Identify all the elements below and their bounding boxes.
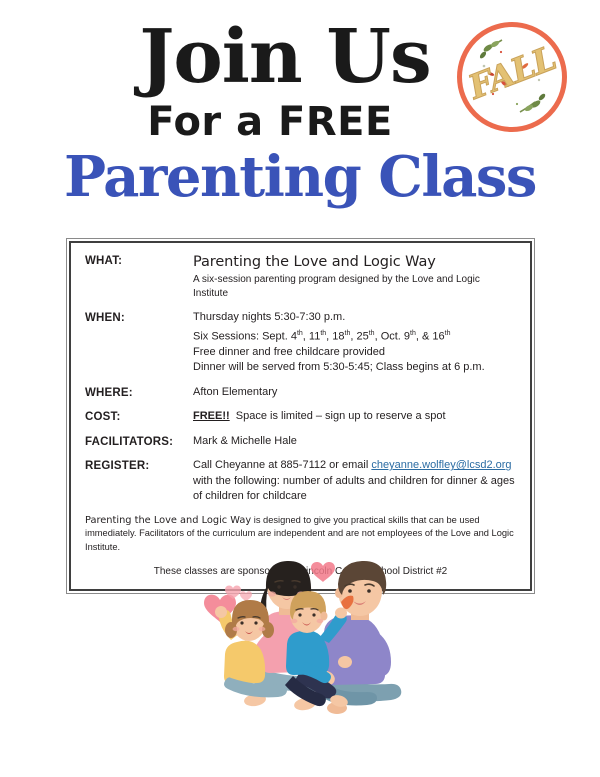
detail-label-facilitators: FACILITATORS:: [85, 434, 193, 448]
detail-value-register: Call Cheyanne at 885-7112 or email cheya…: [193, 458, 516, 505]
fall-badge: FALL: [457, 22, 567, 132]
detail-label-where: WHERE:: [85, 385, 193, 399]
detail-label-cost: COST:: [85, 409, 193, 423]
detail-row-when: WHEN: Thursday nights 5:30-7:30 p.m. Six…: [85, 310, 516, 376]
sessions-mid-5: , & 16: [416, 330, 445, 342]
when-time: Thursday nights 5:30-7:30 p.m.: [193, 310, 516, 326]
disclaimer-program-name: Parenting the Love and Logic Way: [85, 515, 251, 526]
cost-free-tag: FREE!!: [193, 410, 230, 422]
cost-note: Space is limited – sign up to reserve a …: [236, 410, 446, 422]
flyer-header: Join Us For a FREE Parenting Class: [0, 0, 600, 215]
program-subtitle: A six-session parenting program designed…: [193, 273, 516, 301]
program-title: Parenting the Love and Logic Way: [193, 254, 436, 270]
detail-value-what: Parenting the Love and Logic Way A six-s…: [193, 253, 516, 301]
detail-value-facilitators: Mark & Michelle Hale: [193, 434, 516, 450]
when-meals: Free dinner and free childcare provided: [193, 345, 516, 361]
when-dinner-detail: Dinner will be served from 5:30-5:45; Cl…: [193, 360, 516, 376]
detail-row-register: REGISTER: Call Cheyanne at 885-7112 or e…: [85, 458, 516, 505]
detail-row-what: WHAT: Parenting the Love and Logic Way A…: [85, 253, 516, 301]
detail-label-register: REGISTER:: [85, 458, 193, 472]
sessions-prefix: Six Sessions: Sept. 4: [193, 330, 297, 342]
detail-value-when: Thursday nights 5:30-7:30 p.m. Six Sessi…: [193, 310, 516, 376]
ordinal-6: th: [445, 330, 451, 337]
sessions-mid-1: , 11: [303, 330, 321, 342]
register-email-link[interactable]: cheyanne.wolfley@lcsd2.org: [371, 459, 511, 471]
details-box-inner: WHAT: Parenting the Love and Logic Way A…: [69, 241, 532, 591]
register-text-before: Call Cheyanne at 885-7112 or email: [193, 459, 371, 471]
when-sessions: Six Sessions: Sept. 4th, 11th, 18th, 25t…: [193, 326, 516, 345]
detail-row-where: WHERE: Afton Elementary: [85, 385, 516, 401]
detail-label-what: WHAT:: [85, 253, 193, 267]
family-illustration: [193, 558, 409, 718]
sessions-mid-4: , Oct. 9: [375, 330, 410, 342]
disclaimer-text: Parenting the Love and Logic Way is desi…: [85, 514, 516, 555]
detail-value-cost: FREE!! Space is limited – sign up to res…: [193, 409, 516, 425]
register-text-after: with the following: number of adults and…: [193, 475, 515, 503]
details-box: WHAT: Parenting the Love and Logic Way A…: [66, 238, 535, 594]
detail-row-facilitators: FACILITATORS: Mark & Michelle Hale: [85, 434, 516, 450]
detail-label-when: WHEN:: [85, 310, 193, 324]
sessions-mid-3: , 25: [350, 330, 368, 342]
headline-parenting-class: Parenting Class: [0, 146, 600, 208]
detail-value-where: Afton Elementary: [193, 385, 516, 401]
sessions-mid-2: , 18: [326, 330, 344, 342]
detail-row-cost: COST: FREE!! Space is limited – sign up …: [85, 409, 516, 425]
